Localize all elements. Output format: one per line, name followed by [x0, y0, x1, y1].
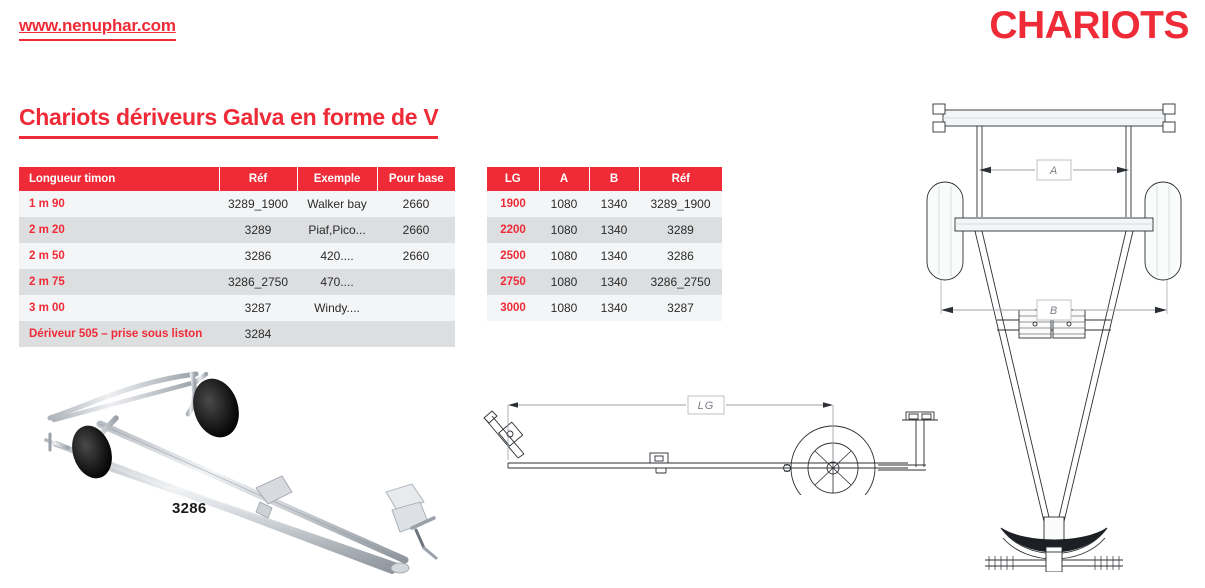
cell-longueur: 2 m 50 — [19, 243, 219, 269]
cell-ref: 3286_2750 — [639, 269, 722, 295]
cell-b: 1340 — [589, 191, 639, 217]
cell-base — [377, 269, 455, 295]
cell-lg: 3000 — [487, 295, 539, 321]
cell-lg: 2750 — [487, 269, 539, 295]
col-b: B — [589, 167, 639, 191]
table-row: 1 m 90 3289_1900 Walker bay 2660 — [19, 191, 455, 217]
cell-b: 1340 — [589, 243, 639, 269]
cell-exemple — [297, 321, 377, 347]
page-title: Chariots dériveurs Galva en forme de V — [19, 104, 438, 139]
col-longueur-timon: Longueur timon — [19, 167, 219, 191]
col-exemple: Exemple — [297, 167, 377, 191]
table-row: 2 m 75 3286_2750 470.... — [19, 269, 455, 295]
cell-exemple: 420.... — [297, 243, 377, 269]
cell-a: 1080 — [539, 191, 589, 217]
cell-base — [377, 321, 455, 347]
catalog-title: CHARIOTS — [989, 4, 1189, 48]
dimension-label-b: B — [1050, 305, 1058, 317]
dimension-lg: LG — [508, 396, 833, 462]
table-row: 2 m 50 3286 420.... 2660 — [19, 243, 455, 269]
dimension-a: A — [979, 160, 1129, 180]
cell-ref: 3289 — [219, 217, 297, 243]
cell-b: 1340 — [589, 217, 639, 243]
table-header-row: LG A B Réf — [487, 167, 722, 191]
cell-ref: 3286 — [639, 243, 722, 269]
cell-a: 1080 — [539, 295, 589, 321]
table-longueur-timon: Longueur timon Réf Exemple Pour base 1 m… — [19, 167, 455, 347]
dimension-label-lg: LG — [698, 400, 715, 412]
table-row: 1900 1080 1340 3289_1900 — [487, 191, 722, 217]
cell-ref: 3286_2750 — [219, 269, 297, 295]
cell-base: 2660 — [377, 217, 455, 243]
cell-ref: 3289 — [639, 217, 722, 243]
table-timon-header: Longueur timon Réf Exemple Pour base — [19, 167, 455, 191]
table-row: 3 m 00 3287 Windy.... — [19, 295, 455, 321]
cell-lg: 1900 — [487, 191, 539, 217]
cell-a: 1080 — [539, 269, 589, 295]
table-row: 2500 1080 1340 3286 — [487, 243, 722, 269]
col-a: A — [539, 167, 589, 191]
side-view-geometry — [484, 411, 938, 495]
cell-longueur: 2 m 20 — [19, 217, 219, 243]
col-lg: LG — [487, 167, 539, 191]
cell-b: 1340 — [589, 269, 639, 295]
cell-exemple: Windy.... — [297, 295, 377, 321]
cell-exemple: 470.... — [297, 269, 377, 295]
cell-a: 1080 — [539, 243, 589, 269]
table-row: 3000 1080 1340 3287 — [487, 295, 722, 321]
cell-longueur: 1 m 90 — [19, 191, 219, 217]
table-row: Dériveur 505 – prise sous liston 3284 — [19, 321, 455, 347]
table-row: 2 m 20 3289 Piaf,Pico... 2660 — [19, 217, 455, 243]
table-lg-header: LG A B Réf — [487, 167, 722, 191]
cell-base: 2660 — [377, 191, 455, 217]
cell-ref: 3289_1900 — [219, 191, 297, 217]
cell-exemple: Piaf,Pico... — [297, 217, 377, 243]
col-ref: Réf — [639, 167, 722, 191]
cell-lg: 2200 — [487, 217, 539, 243]
table-lg-body: 1900 1080 1340 3289_1900 2200 1080 1340 … — [487, 191, 722, 321]
photo-caption: 3286 — [172, 500, 207, 517]
cell-a: 1080 — [539, 217, 589, 243]
table-row: 2750 1080 1340 3286_2750 — [487, 269, 722, 295]
cell-longueur: 3 m 00 — [19, 295, 219, 321]
trolley-wheels — [66, 373, 247, 484]
cell-ref: 3287 — [219, 295, 297, 321]
cell-longueur: 2 m 75 — [19, 269, 219, 295]
dimension-b: B — [941, 280, 1167, 320]
cell-ref: 3284 — [219, 321, 297, 347]
table-timon-body: 1 m 90 3289_1900 Walker bay 2660 2 m 20 … — [19, 191, 455, 347]
cell-base: 2660 — [377, 243, 455, 269]
cell-lg: 2500 — [487, 243, 539, 269]
table-lg-dimensions: LG A B Réf 1900 1080 1340 3289_1900 2200… — [487, 167, 722, 321]
cell-ref: 3287 — [639, 295, 722, 321]
drawing-front-view: A B — [915, 92, 1195, 572]
col-ref: Réf — [219, 167, 297, 191]
cell-b: 1340 — [589, 295, 639, 321]
table-row: 2200 1080 1340 3289 — [487, 217, 722, 243]
table-header-row: Longueur timon Réf Exemple Pour base — [19, 167, 455, 191]
cell-base — [377, 295, 455, 321]
cell-ref: 3286 — [219, 243, 297, 269]
site-url-link[interactable]: www.nenuphar.com — [19, 16, 176, 41]
col-pour-base: Pour base — [377, 167, 455, 191]
cell-exemple: Walker bay — [297, 191, 377, 217]
cell-longueur: Dériveur 505 – prise sous liston — [19, 321, 219, 347]
product-photo — [20, 352, 460, 584]
drawing-side-view: LG — [478, 380, 948, 495]
cell-ref: 3289_1900 — [639, 191, 722, 217]
catalog-page: www.nenuphar.com CHARIOTS Chariots dériv… — [0, 0, 1205, 588]
dimension-label-a: A — [1049, 165, 1058, 177]
